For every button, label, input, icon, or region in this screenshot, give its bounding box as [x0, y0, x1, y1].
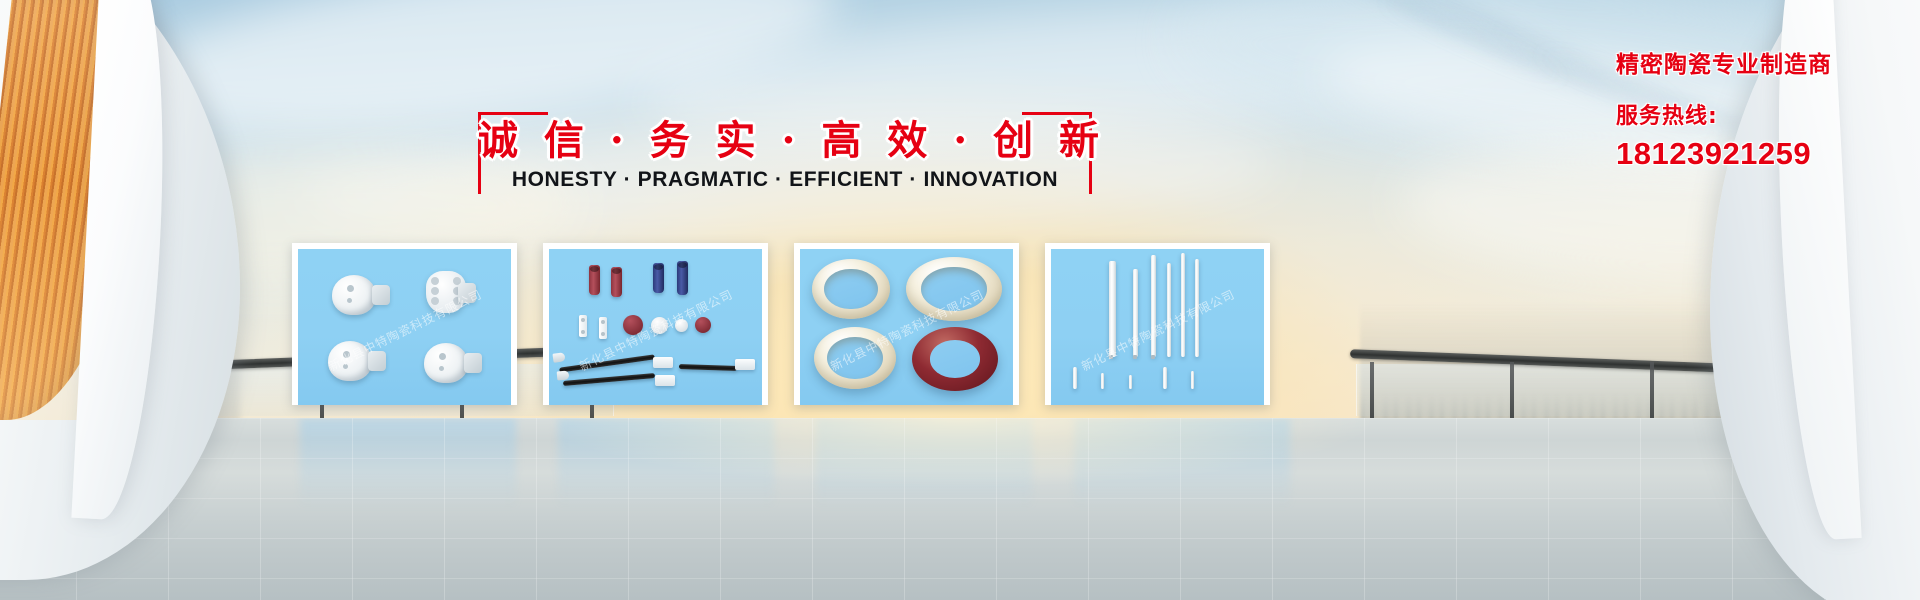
floor-tile-grid: [0, 418, 1920, 600]
product-panel[interactable]: 新化县中特陶瓷科技有限公司: [1045, 243, 1270, 405]
railing-post: [180, 362, 184, 418]
ceramic-sleeve: [677, 261, 688, 295]
ceramic-rod: [1167, 263, 1171, 357]
banner-stage: 诚 信 · 务 实 · 高 效 · 创 新 HONESTY · PRAGMATI…: [0, 0, 1920, 600]
cable-assembly: [563, 373, 655, 386]
ceramic-rod-tip: [1151, 355, 1155, 359]
ceramic-rod: [1109, 261, 1116, 357]
ceramic-holder-tail: [368, 351, 386, 371]
ceramic-rod-tip: [1109, 355, 1113, 359]
glass-railing-right: [1350, 348, 1810, 418]
cable-assembly: [679, 364, 737, 371]
ceramic-pin: [1129, 375, 1132, 389]
product-panel[interactable]: 新化县中特陶瓷科技有限公司: [543, 243, 768, 405]
cable-tip: [557, 370, 570, 380]
ceramic-holder: [424, 343, 468, 383]
product-panel[interactable]: 新化县中特陶瓷科技有限公司: [292, 243, 517, 405]
railing-post: [1510, 362, 1514, 418]
ceramic-ring: [651, 317, 668, 334]
ceramic-sleeve: [589, 265, 600, 295]
ceramic-holder: [328, 341, 372, 381]
ceramic-rod-tip: [1133, 355, 1137, 359]
ceramic-rod: [1151, 255, 1156, 357]
railing-post: [1780, 362, 1784, 418]
railing-post: [1370, 362, 1374, 418]
ceramic-chip: [579, 315, 587, 337]
product-photo-4: 新化县中特陶瓷科技有限公司: [1051, 249, 1264, 405]
product-panel-row: 新化县中特陶瓷科技有限公司: [292, 243, 1270, 405]
ceramic-holder: [332, 275, 376, 315]
hotline-number[interactable]: 18123921259: [1616, 136, 1832, 172]
cable-connector: [735, 359, 755, 370]
cable-connector: [655, 375, 675, 386]
slogan-block: 诚 信 · 务 实 · 高 效 · 创 新 HONESTY · PRAGMATI…: [478, 112, 1092, 194]
ceramic-holder-tail: [372, 285, 390, 305]
ceramic-pin: [1191, 371, 1194, 389]
ceramic-holder-tail: [458, 283, 476, 303]
ceramic-holder-tail: [464, 353, 482, 373]
product-photo-2: 新化县中特陶瓷科技有限公司: [549, 249, 762, 405]
ceramic-rod: [1133, 269, 1138, 357]
watermark-text: 新化县中特陶瓷科技有限公司: [1078, 285, 1237, 374]
ceramic-ring: [623, 315, 643, 335]
ceramic-ring: [695, 317, 711, 333]
product-photo-1: 新化县中特陶瓷科技有限公司: [298, 249, 511, 405]
ceramic-rod: [1195, 259, 1199, 357]
terrace-floor: [0, 418, 1920, 600]
product-panel[interactable]: 新化县中特陶瓷科技有限公司: [794, 243, 1019, 405]
ceramic-pin: [1073, 367, 1077, 389]
slogan-chinese: 诚 信 · 务 实 · 高 效 · 创 新: [478, 108, 1092, 166]
ceramic-ring: [675, 319, 688, 332]
cable-tip: [552, 352, 565, 363]
slogan-english: HONESTY · PRAGMATIC · EFFICIENT · INNOVA…: [438, 168, 1132, 192]
ceramic-sleeve: [611, 267, 622, 297]
cable-connector: [653, 357, 673, 368]
ceramic-rod: [1181, 253, 1185, 357]
railing-post: [1650, 362, 1654, 418]
company-tagline: 精密陶瓷专业制造商: [1616, 52, 1832, 80]
ceramic-ring-large: [814, 327, 896, 389]
ceramic-pin: [1163, 367, 1167, 389]
product-photo-3: 新化县中特陶瓷科技有限公司: [800, 249, 1013, 405]
rubber-o-ring: [912, 327, 998, 391]
contact-block: 精密陶瓷专业制造商 服务热线: 18123921259: [1616, 52, 1832, 172]
ceramic-sleeve: [653, 263, 664, 293]
hotline-label: 服务热线:: [1616, 98, 1832, 130]
ceramic-pin: [1101, 373, 1104, 389]
ceramic-chip: [599, 317, 607, 339]
ceramic-ring-large: [906, 257, 1002, 321]
cable-assembly: [559, 354, 655, 372]
ceramic-ring-large: [812, 259, 890, 319]
